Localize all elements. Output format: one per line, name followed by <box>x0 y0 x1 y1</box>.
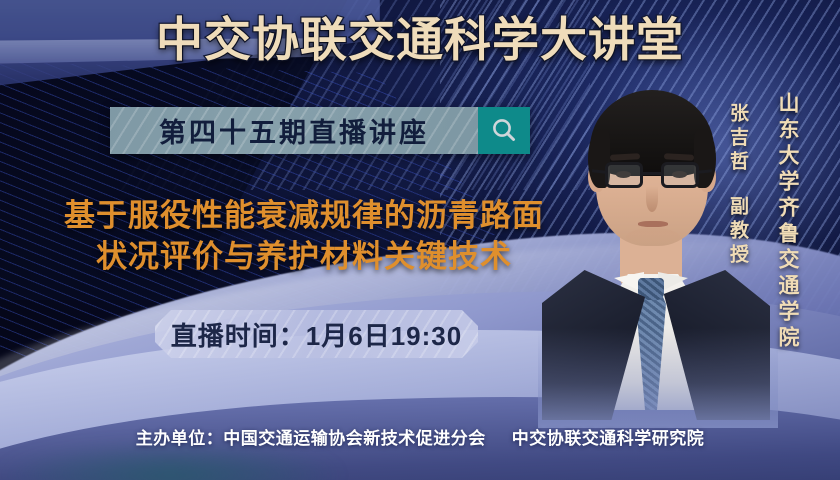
episode-bar-fill: 第四十五期直播讲座 <box>110 107 478 154</box>
portrait-glasses-bridge <box>643 172 661 175</box>
portrait-glasses-lens-left <box>605 162 643 188</box>
lecture-title-line-2: 状况评价与养护材料关键技术 <box>24 237 584 278</box>
search-button[interactable] <box>478 107 530 154</box>
speaker-rank: 副教授 <box>724 196 751 268</box>
lecture-title: 基于服役性能衰减规律的沥青路面 状况评价与养护材料关键技术 <box>24 196 584 278</box>
footer-organizers: 主办单位：中国交通运输协会新技术促进分会中交协联交通科学研究院 <box>0 424 840 449</box>
lecture-title-line-1: 基于服役性能衰减规律的沥青路面 <box>24 196 584 237</box>
episode-label: 第四十五期直播讲座 <box>159 111 429 150</box>
portrait-chin-shadow <box>626 228 680 246</box>
live-lecture-poster: 中交协联交通科学大讲堂 第四十五期直播讲座 基于服役性能衰减规律的沥青路面 状况… <box>0 0 840 480</box>
episode-bar: 第四十五期直播讲座 <box>110 107 530 154</box>
footer-organizer: 主办单位：中国交通运输协会新技术促进分会 <box>136 429 486 448</box>
portrait-nose <box>646 186 658 212</box>
page-title: 中交协联交通科学大讲堂 <box>0 16 840 65</box>
broadcast-time-badge: 直播时间：1月6日19:30 <box>155 310 478 358</box>
speaker-institution: 山东大学齐鲁交通学院 <box>772 92 802 352</box>
broadcast-time-text: 直播时间：1月6日19:30 <box>171 316 462 353</box>
footer-co-organizer: 中交协联交通科学研究院 <box>512 429 705 448</box>
portrait-glasses-lens-right <box>661 162 699 188</box>
search-icon <box>489 116 519 146</box>
speaker-name: 张吉哲 <box>724 103 751 175</box>
portrait-bottom-fade <box>538 328 778 428</box>
portrait-mouth <box>638 221 668 227</box>
